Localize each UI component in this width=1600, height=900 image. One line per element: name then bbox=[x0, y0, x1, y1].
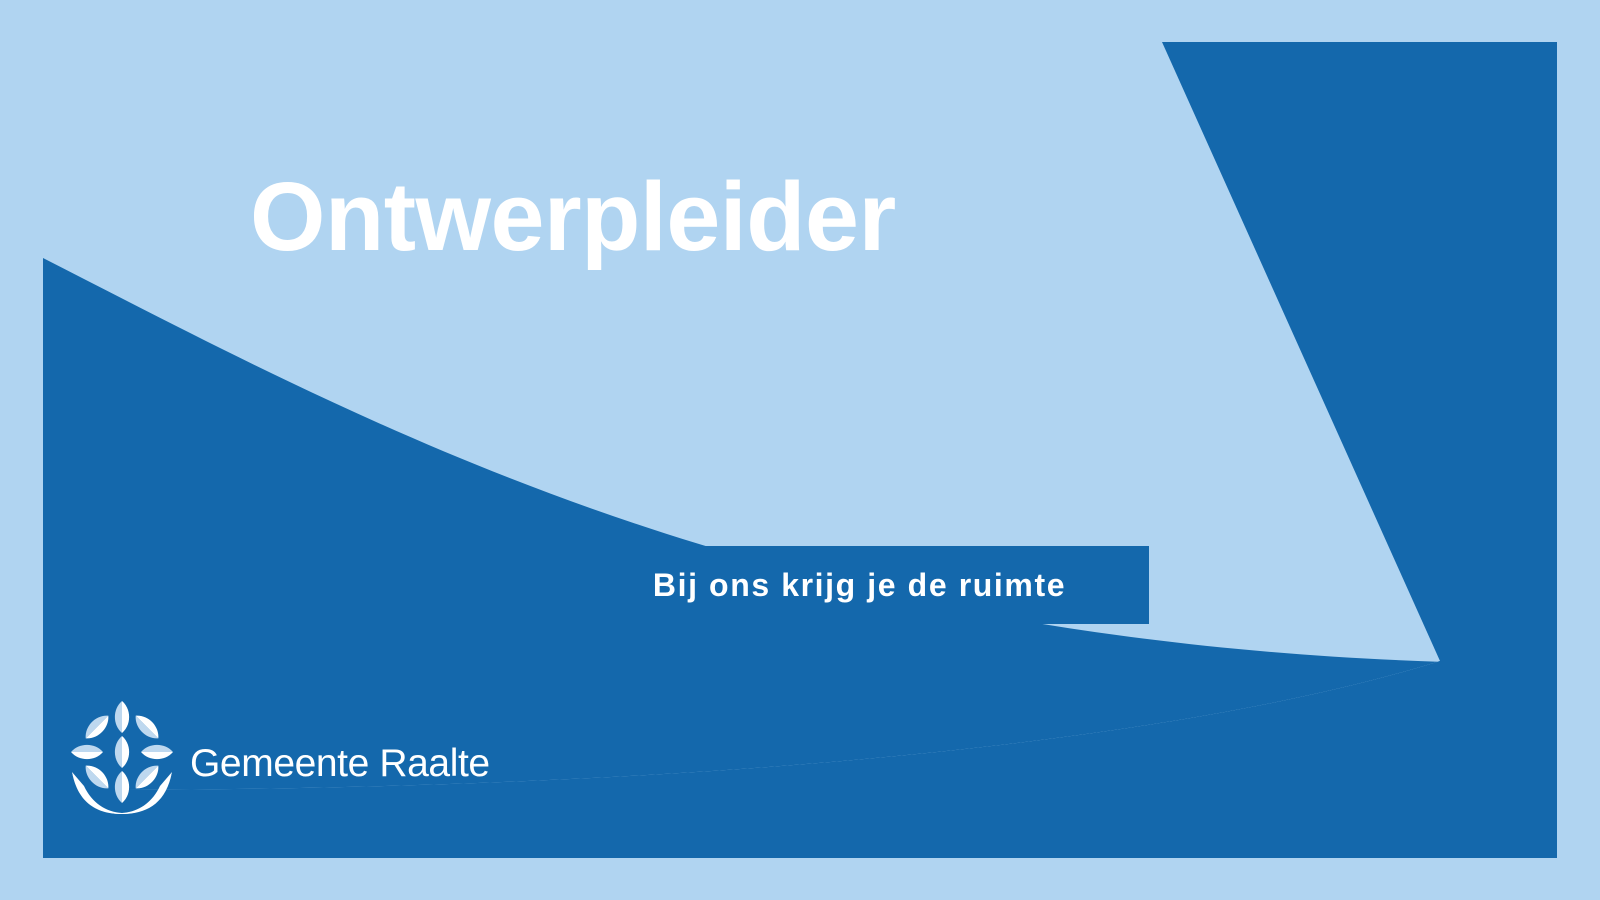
page-title: Ontwerpleider bbox=[250, 166, 896, 268]
organisation-name: Gemeente Raalte bbox=[190, 744, 490, 783]
raalte-flower-logo-icon bbox=[70, 700, 174, 814]
tagline-banner: Bij ons krijg je de ruimte bbox=[570, 546, 1149, 624]
logo-lockup: Gemeente Raalte bbox=[70, 698, 490, 816]
tagline-text: Bij ons krijg je de ruimte bbox=[653, 569, 1066, 601]
vacancy-banner: Ontwerpleider Bij ons krijg je de ruimte bbox=[0, 0, 1600, 900]
